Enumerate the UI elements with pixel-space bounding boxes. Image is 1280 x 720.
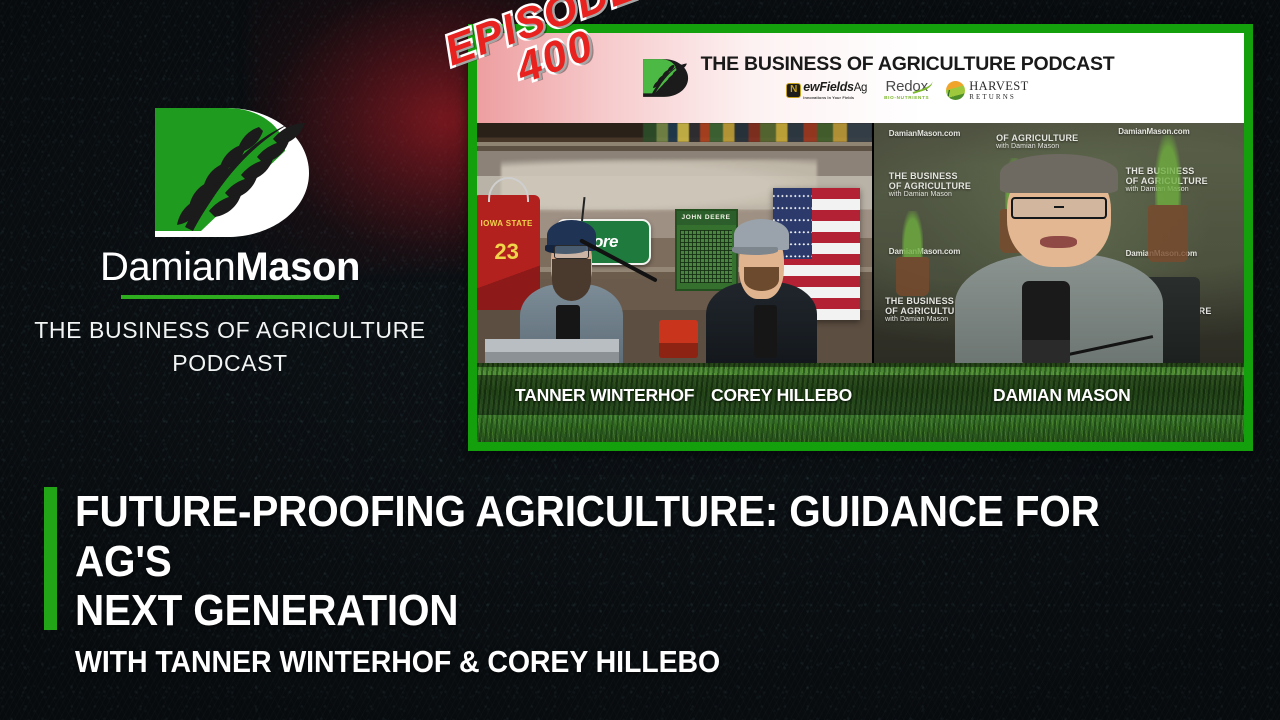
- host-hair: [1000, 154, 1118, 192]
- redox-tagline: BIO-NUTRIENTS: [884, 96, 929, 101]
- episode-title-subtitle: WITH TANNER WINTERHOF & COREY HILLEBO: [75, 645, 1128, 679]
- shelf-board: [477, 142, 872, 151]
- video-header-text-column: THE BUSINESS OF AGRICULTURE PODCAST N ew…: [701, 55, 1115, 101]
- harvest-returns-text: HARVEST RETURNS: [969, 80, 1028, 101]
- business-of-agriculture-fern-logo-icon: [639, 52, 691, 104]
- thumbnail-canvas: DamianMason THE BUSINESS OF AGRICULTURE …: [0, 0, 1280, 720]
- backdrop-line3: with Damian Mason: [889, 191, 971, 199]
- speaker-name-damian: DAMIAN MASON: [993, 385, 1131, 406]
- grass-lower-third: TANNER WINTERHOF COREY HILLEBO DAMIAN MA…: [477, 363, 1244, 442]
- newfields-ag-name: ewFieldsAg: [803, 81, 867, 95]
- guest-right-mustache: [744, 267, 779, 291]
- speaker-name-strip: TANNER WINTERHOF COREY HILLEBO DAMIAN MA…: [477, 375, 1244, 415]
- newfields-ag-main: ewFields: [803, 80, 853, 94]
- host-glasses: [1011, 197, 1107, 219]
- backdrop-text-group-1: THE BUSINESS OF AGRICULTURE with Damian …: [889, 171, 971, 199]
- speaker-name-tanner: TANNER WINTERHOF: [515, 385, 694, 406]
- harvest-returns-field-circle-icon: [946, 81, 965, 100]
- backdrop-line3: with Damian Mason: [996, 143, 1078, 151]
- microphone-right: [754, 305, 778, 358]
- backdrop-line2: OF AGRICULTURE: [996, 133, 1078, 143]
- grass-top-shadow: [477, 363, 1244, 367]
- brand-wordmark: DamianMason: [0, 246, 460, 288]
- sponsor-logo-row: N ewFieldsAg Innovations In Your Fields …: [701, 79, 1115, 101]
- host-microphone: [1022, 281, 1070, 363]
- sponsor-newfields-ag[interactable]: N ewFieldsAg Innovations In Your Fields: [786, 81, 867, 100]
- backdrop-line1: THE BUSINESS: [889, 171, 971, 181]
- backdrop-line2: OF AGRICULTURE: [889, 181, 971, 191]
- speaker-name-corey: COREY HILLEBO: [711, 385, 852, 406]
- guest-left-beard: [552, 259, 591, 300]
- sponsor-redox[interactable]: Redox BIO-NUTRIENTS: [884, 79, 929, 101]
- episode-title-main: FUTURE-PROOFING AGRICULTURE: GUIDANCE FO…: [75, 487, 1128, 636]
- laptop-screen-prop: [485, 339, 619, 363]
- brand-divider-rule: [121, 295, 339, 299]
- newfields-ag-text: ewFieldsAg Innovations In Your Fields: [803, 81, 867, 100]
- guest-right-cap: [734, 219, 789, 251]
- video-header-title: THE BUSINESS OF AGRICULTURE PODCAST: [701, 55, 1115, 75]
- host-mouth: [1040, 236, 1077, 248]
- brand-block: DamianMason THE BUSINESS OF AGRICULTURE …: [0, 105, 460, 379]
- shelf-clutter: [643, 123, 872, 142]
- newfields-ag-suffix: Ag: [854, 82, 867, 94]
- episode-title-block: FUTURE-PROOFING AGRICULTURE: GUIDANCE FO…: [44, 487, 1220, 679]
- episode-title-text: FUTURE-PROOFING AGRICULTURE: GUIDANCE FO…: [75, 487, 1220, 679]
- overhead-shelf: [477, 123, 872, 149]
- guest-scene-background: IOWA STATE 23 lore JOHN DEERE: [477, 123, 872, 363]
- video-panel-host: THE BUSINESS OF AGRICULTURE with Damian …: [872, 123, 1244, 363]
- sprout-pot-2: [1148, 205, 1189, 263]
- episode-title-line1: FUTURE-PROOFING AGRICULTURE: GUIDANCE FO…: [75, 487, 1128, 586]
- harvest-returns-tagline: RETURNS: [969, 94, 1028, 101]
- backdrop-url-1: DamianMason.com: [889, 130, 960, 139]
- backdrop-url-2: DamianMason.com: [889, 248, 960, 257]
- video-panel-guests: IOWA STATE 23 lore JOHN DEERE: [477, 123, 872, 363]
- video-header-content: THE BUSINESS OF AGRICULTURE PODCAST N ew…: [639, 52, 1115, 104]
- brand-tagline: THE BUSINESS OF AGRICULTURE PODCAST: [30, 314, 430, 379]
- newfields-ag-tagline: Innovations In Your Fields: [803, 96, 867, 100]
- newfields-ag-shield-icon: N: [786, 83, 801, 98]
- title-accent-bar: [44, 487, 57, 630]
- video-panel-row: IOWA STATE 23 lore JOHN DEERE: [477, 123, 1244, 363]
- sprout-pot-1: [896, 257, 929, 295]
- sponsor-harvest-returns[interactable]: HARVEST RETURNS: [946, 80, 1028, 101]
- damian-mason-fern-d-logo-icon: [141, 105, 319, 240]
- video-header-bar: THE BUSINESS OF AGRICULTURE PODCAST N ew…: [477, 33, 1244, 123]
- harvest-returns-name: HARVEST: [969, 80, 1028, 93]
- host-scene-background: THE BUSINESS OF AGRICULTURE with Damian …: [874, 123, 1244, 363]
- brand-wordmark-last: Mason: [235, 245, 360, 289]
- backdrop-text-group-5: OF AGRICULTURE with Damian Mason: [996, 133, 1078, 151]
- guest-left-glasses: [554, 245, 589, 259]
- brand-wordmark-first: Damian: [100, 245, 235, 289]
- episode-title-line2: NEXT GENERATION: [75, 586, 1128, 636]
- video-preview-card[interactable]: THE BUSINESS OF AGRICULTURE PODCAST N ew…: [468, 24, 1253, 451]
- power-drill-prop: [659, 320, 699, 358]
- redox-name: Redox: [886, 79, 928, 94]
- video-preview-inner: THE BUSINESS OF AGRICULTURE PODCAST N ew…: [477, 33, 1244, 442]
